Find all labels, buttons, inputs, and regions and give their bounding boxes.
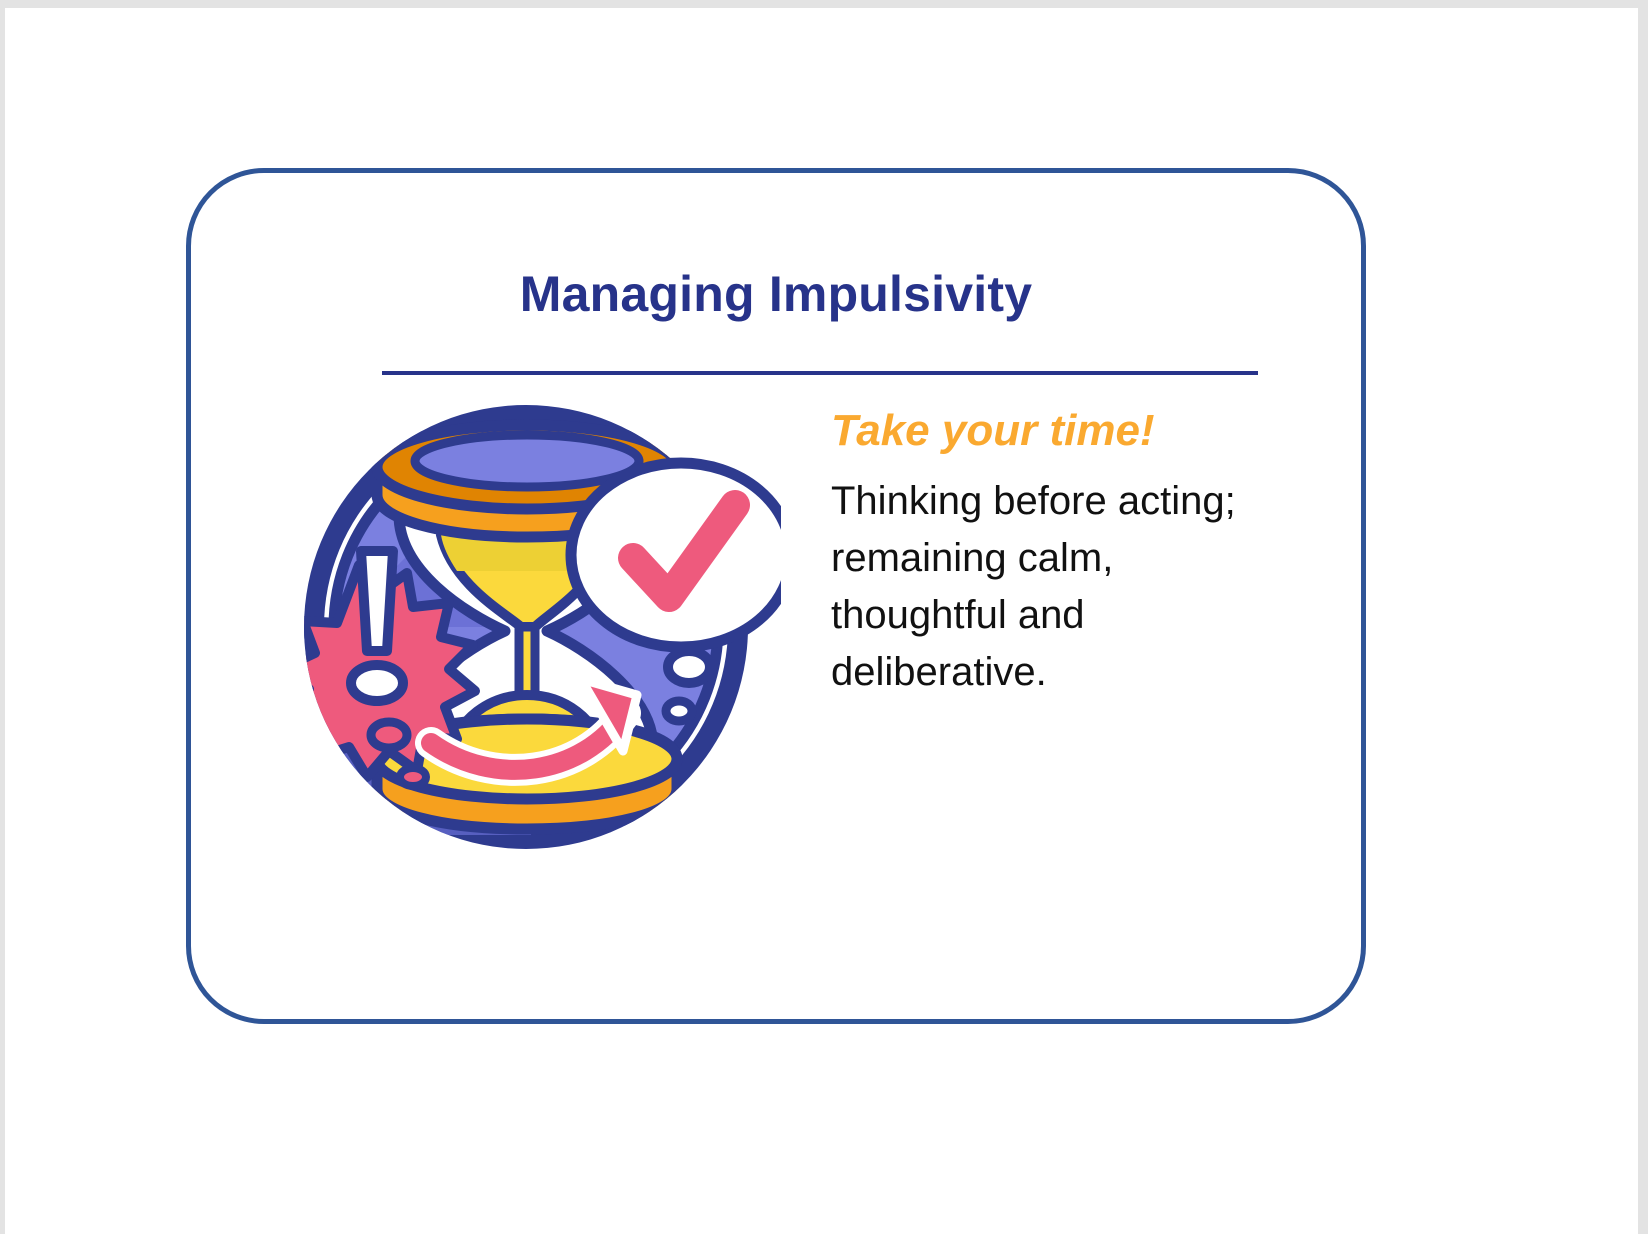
hourglass-badge-icon bbox=[281, 395, 781, 875]
tagline: Take your time! bbox=[831, 407, 1301, 455]
slide-page: Managing Impulsivity bbox=[5, 8, 1638, 1234]
content-card: Managing Impulsivity bbox=[186, 168, 1366, 1024]
title-divider bbox=[382, 371, 1258, 375]
checkmark-thought-bubble bbox=[571, 463, 781, 647]
text-column: Take your time! Thinking before acting; … bbox=[831, 407, 1301, 701]
card-body: Take your time! Thinking before acting; … bbox=[191, 395, 1361, 1015]
description-text: Thinking before acting; remaining calm, … bbox=[831, 473, 1261, 700]
page-title: Managing Impulsivity bbox=[191, 268, 1361, 321]
